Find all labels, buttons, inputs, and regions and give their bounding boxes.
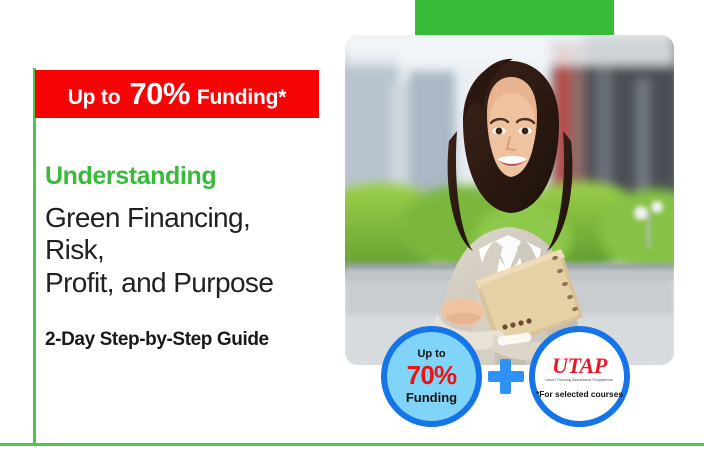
- course-subtitle: 2-Day Step-by-Step Guide: [45, 329, 269, 351]
- utap-disclaimer: *For selected courses: [536, 390, 623, 398]
- funding-ribbon-percent: 70%: [129, 76, 190, 112]
- headline-line-3: Profit, and Purpose: [45, 267, 345, 300]
- top-green-accent-bar: [415, 0, 614, 36]
- plus-icon: [486, 356, 526, 396]
- utap-tagline: Union Training Assistance Programme: [546, 379, 614, 383]
- funding-ribbon-suffix: Funding*: [197, 86, 286, 110]
- headline-eyebrow: Understanding: [45, 163, 345, 191]
- funding-badge-label: Funding: [406, 391, 457, 404]
- headline-title: Green Financing, Risk, Profit, and Purpo…: [45, 202, 345, 300]
- utap-badge: UTAP Union Training Assistance Programme…: [529, 326, 630, 427]
- funding-ribbon-prefix: Up to: [68, 86, 121, 110]
- funding-badge: Up to 70% Funding: [381, 326, 482, 427]
- funding-ribbon: Up to 70% Funding*: [35, 70, 319, 118]
- headline-line-2: Risk,: [45, 234, 345, 267]
- headline-block: Understanding Green Financing, Risk, Pro…: [45, 163, 345, 300]
- hero-photo: [345, 35, 674, 365]
- bottom-green-divider: [0, 443, 704, 446]
- promo-banner-canvas: Up to 70% Funding* Understanding Green F…: [0, 0, 704, 460]
- vertical-green-accent-line: [33, 68, 36, 444]
- utap-logo-text: UTAP: [552, 355, 607, 377]
- funding-badge-percent: 70%: [407, 362, 457, 389]
- funding-badge-prefix: Up to: [417, 349, 445, 360]
- badge-group: Up to 70% Funding UTAP Union Training As…: [378, 326, 668, 430]
- funding-ribbon-text: Up to 70% Funding*: [68, 76, 287, 112]
- headline-line-1: Green Financing,: [45, 202, 345, 235]
